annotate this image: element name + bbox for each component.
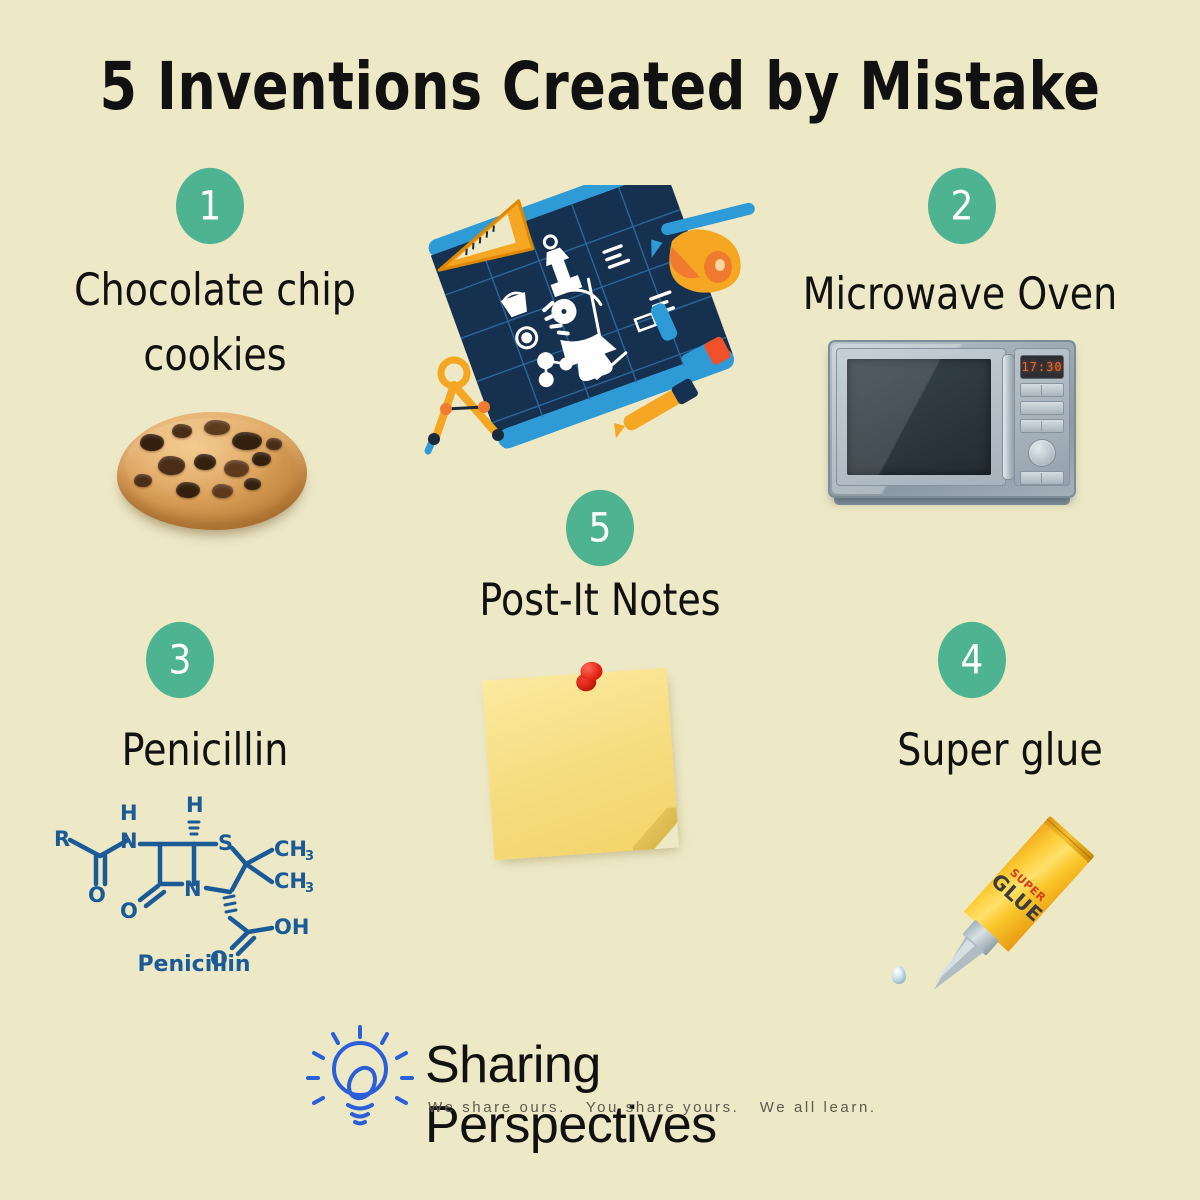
svg-text:N: N — [120, 829, 138, 853]
svg-text:R: R — [54, 827, 70, 851]
glue-drop — [892, 966, 906, 984]
badge-number-5: 5 — [566, 490, 634, 566]
glue-tube-illustration: SUPER GLUE — [880, 790, 1110, 1005]
svg-text:OH: OH — [274, 915, 309, 939]
lightbulb-icon — [300, 1021, 420, 1126]
item-label-microwave-oven: Microwave Oven — [770, 262, 1150, 327]
sticky-note-illustration — [480, 660, 720, 880]
penicillin-caption: Penicillin — [34, 952, 354, 977]
penicillin-structure: R H N O H S N O O OH CH CH 3 3 Penicilli… — [34, 784, 354, 999]
blueprint-invention-illustration — [420, 185, 765, 475]
badge-number-3: 3 — [146, 622, 214, 698]
badge-number-1: 1 — [176, 168, 244, 244]
item-label-penicillin: Penicillin — [40, 718, 370, 783]
item-label-post-it-notes: Post-It Notes — [420, 568, 780, 633]
microwave-display-time: 17:30 — [1021, 360, 1062, 374]
svg-text:N: N — [184, 877, 202, 901]
page-title: 5 Inventions Created by Mistake — [0, 48, 1200, 125]
svg-text:H: H — [186, 793, 204, 817]
svg-text:H: H — [120, 801, 138, 825]
svg-text:3: 3 — [305, 849, 314, 864]
item-label-chocolate-chip-cookies: Chocolate chipcookies — [40, 258, 390, 388]
badge-number-4: 4 — [938, 622, 1006, 698]
brand-name: Sharing Perspectives — [425, 1035, 900, 1155]
pushpin-icon — [575, 661, 605, 697]
svg-text:O: O — [88, 883, 106, 907]
badge-number-2: 2 — [928, 168, 996, 244]
svg-text:S: S — [218, 831, 233, 855]
footer-logo: Sharing Perspectives We share ours. You … — [300, 1015, 900, 1130]
svg-text:3: 3 — [305, 881, 314, 896]
svg-text:O: O — [120, 899, 138, 923]
svg-text:CH: CH — [274, 837, 307, 861]
infographic-canvas: 5 Inventions Created by Mistake 1 Chocol… — [0, 0, 1200, 1200]
item-label-super-glue: Super glue — [850, 718, 1150, 783]
svg-text:CH: CH — [274, 869, 307, 893]
microwave-display: 17:30 — [1020, 355, 1064, 379]
cookie-photo — [112, 404, 312, 544]
brand-tagline: We share ours. You share yours. We all l… — [428, 1099, 877, 1116]
microwave-illustration: 17:30 — [828, 340, 1076, 498]
